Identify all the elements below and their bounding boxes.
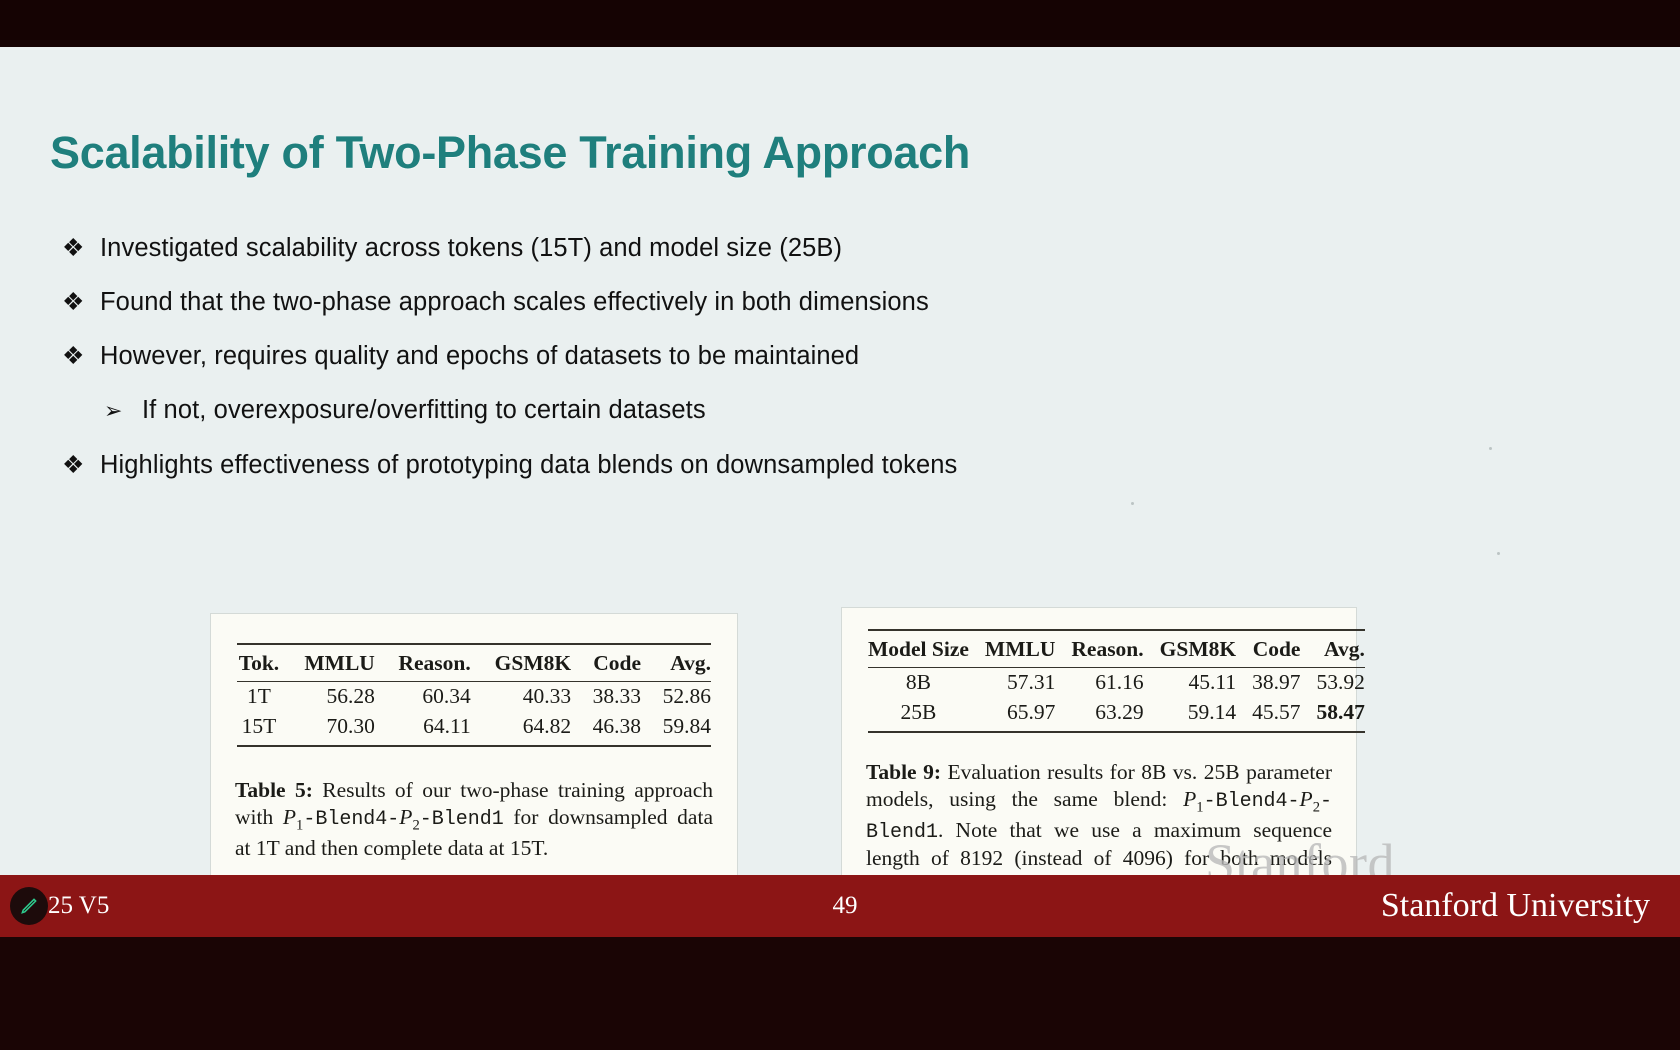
video-frame: Scalability of Two-Phase Training Approa… [0, 0, 1680, 1050]
list-item: ❖ Investigated scalability across tokens… [62, 232, 1362, 265]
table-row: 8B 57.31 61.16 45.11 38.97 53.92 [868, 668, 1365, 699]
column-header: Avg. [641, 644, 711, 682]
table-cell: 65.97 [969, 698, 1055, 732]
table-cell: 64.82 [471, 712, 571, 746]
table-cell: 56.28 [281, 682, 375, 713]
list-item: ❖ However, requires quality and epochs o… [62, 340, 1362, 373]
column-header: GSM8K [1144, 630, 1236, 668]
sub-list-item: ➢ If not, overexposure/overfitting to ce… [104, 394, 1362, 427]
slide-canvas: Scalability of Two-Phase Training Approa… [0, 47, 1680, 875]
table-cell: 52.86 [641, 682, 711, 713]
list-item-label: Investigated scalability across tokens (… [100, 232, 842, 265]
table-cell: 38.97 [1236, 668, 1300, 699]
table-cell: 38.33 [571, 682, 641, 713]
speckle [1497, 552, 1500, 555]
list-item: ❖ Highlights effectiveness of prototypin… [62, 449, 1362, 482]
page-title: Scalability of Two-Phase Training Approa… [50, 127, 970, 179]
table-cell: 45.57 [1236, 698, 1300, 732]
top-letterbox [0, 0, 1680, 47]
list-item-label: Highlights effectiveness of prototyping … [100, 449, 957, 482]
table-cell: 59.14 [1144, 698, 1236, 732]
table-row: 1T 56.28 60.34 40.33 38.33 52.86 [237, 682, 711, 713]
bottom-letterbox: ♣ ONLINE [0, 937, 1680, 1050]
table-cell: 58.47 [1300, 698, 1364, 732]
column-header: Avg. [1300, 630, 1364, 668]
figure-table-9: Model Size MMLU Reason. GSM8K Code Avg. … [842, 608, 1356, 904]
bullet-list: ❖ Investigated scalability across tokens… [62, 232, 1362, 503]
table-row: 25B 65.97 63.29 59.14 45.57 58.47 [868, 698, 1365, 732]
table-cell: 64.11 [375, 712, 471, 746]
diamond-bullet-icon: ❖ [62, 344, 100, 369]
table-cell: 61.16 [1055, 668, 1143, 699]
table-cell: 63.29 [1055, 698, 1143, 732]
table-cell: 70.30 [281, 712, 375, 746]
diamond-bullet-icon: ❖ [62, 453, 100, 478]
table-header-row: Model Size MMLU Reason. GSM8K Code Avg. [868, 630, 1365, 668]
table-cell: 40.33 [471, 682, 571, 713]
column-header: MMLU [281, 644, 375, 682]
table-5: Tok. MMLU Reason. GSM8K Code Avg. 1T 56.… [237, 643, 711, 747]
speckle [1489, 447, 1492, 450]
table-cell: 53.92 [1300, 668, 1364, 699]
table-cell: 8B [868, 668, 969, 699]
table-5-caption: Table 5: Results of our two-phase traini… [211, 777, 737, 862]
table-cell: 1T [237, 682, 281, 713]
list-item-label: However, requires quality and epochs of … [100, 340, 859, 373]
table-cell: 25B [868, 698, 969, 732]
blend-2: -Blend1 [420, 808, 504, 831]
table-header-row: Tok. MMLU Reason. GSM8K Code Avg. [237, 644, 711, 682]
list-item-label: Found that the two-phase approach scales… [100, 286, 929, 319]
blend-p1: P1 [283, 805, 303, 829]
list-item: ❖ Found that the two-phase approach scal… [62, 286, 1362, 319]
table-5-wrapper: Tok. MMLU Reason. GSM8K Code Avg. 1T 56.… [211, 614, 737, 747]
speckle [1131, 502, 1134, 505]
arrow-bullet-icon: ➢ [104, 400, 142, 422]
table-cell: 15T [237, 712, 281, 746]
column-header: Code [571, 644, 641, 682]
diamond-bullet-icon: ❖ [62, 236, 100, 261]
table-row: 15T 70.30 64.11 64.82 46.38 59.84 [237, 712, 711, 746]
table-9-wrapper: Model Size MMLU Reason. GSM8K Code Avg. … [842, 608, 1356, 733]
column-header: GSM8K [471, 644, 571, 682]
table-cell: 57.31 [969, 668, 1055, 699]
sub-list-item-label: If not, overexposure/overfitting to cert… [142, 394, 706, 427]
blend-p2: P2 [1300, 787, 1320, 811]
institution-label: Stanford University [1381, 887, 1650, 925]
table-cell: 60.34 [375, 682, 471, 713]
blend-p2: P2 [399, 805, 419, 829]
blend-p1: P1 [1183, 787, 1203, 811]
column-header: Code [1236, 630, 1300, 668]
blend-1: -Blend4- [303, 808, 399, 831]
diamond-bullet-icon: ❖ [62, 290, 100, 315]
column-header: Tok. [237, 644, 281, 682]
table-cell: 46.38 [571, 712, 641, 746]
caption-label: Table 5: [235, 778, 313, 802]
table-cell: 45.11 [1144, 668, 1236, 699]
table-9: Model Size MMLU Reason. GSM8K Code Avg. … [868, 629, 1365, 733]
slide-footer: 25 V5 49 Stanford University [0, 875, 1680, 937]
column-header: Model Size [868, 630, 969, 668]
column-header: Reason. [1055, 630, 1143, 668]
blend-1: -Blend4- [1204, 790, 1300, 813]
column-header: Reason. [375, 644, 471, 682]
figure-table-5: Tok. MMLU Reason. GSM8K Code Avg. 1T 56.… [211, 614, 737, 900]
caption-label: Table 9: [866, 760, 941, 784]
table-cell: 59.84 [641, 712, 711, 746]
column-header: MMLU [969, 630, 1055, 668]
